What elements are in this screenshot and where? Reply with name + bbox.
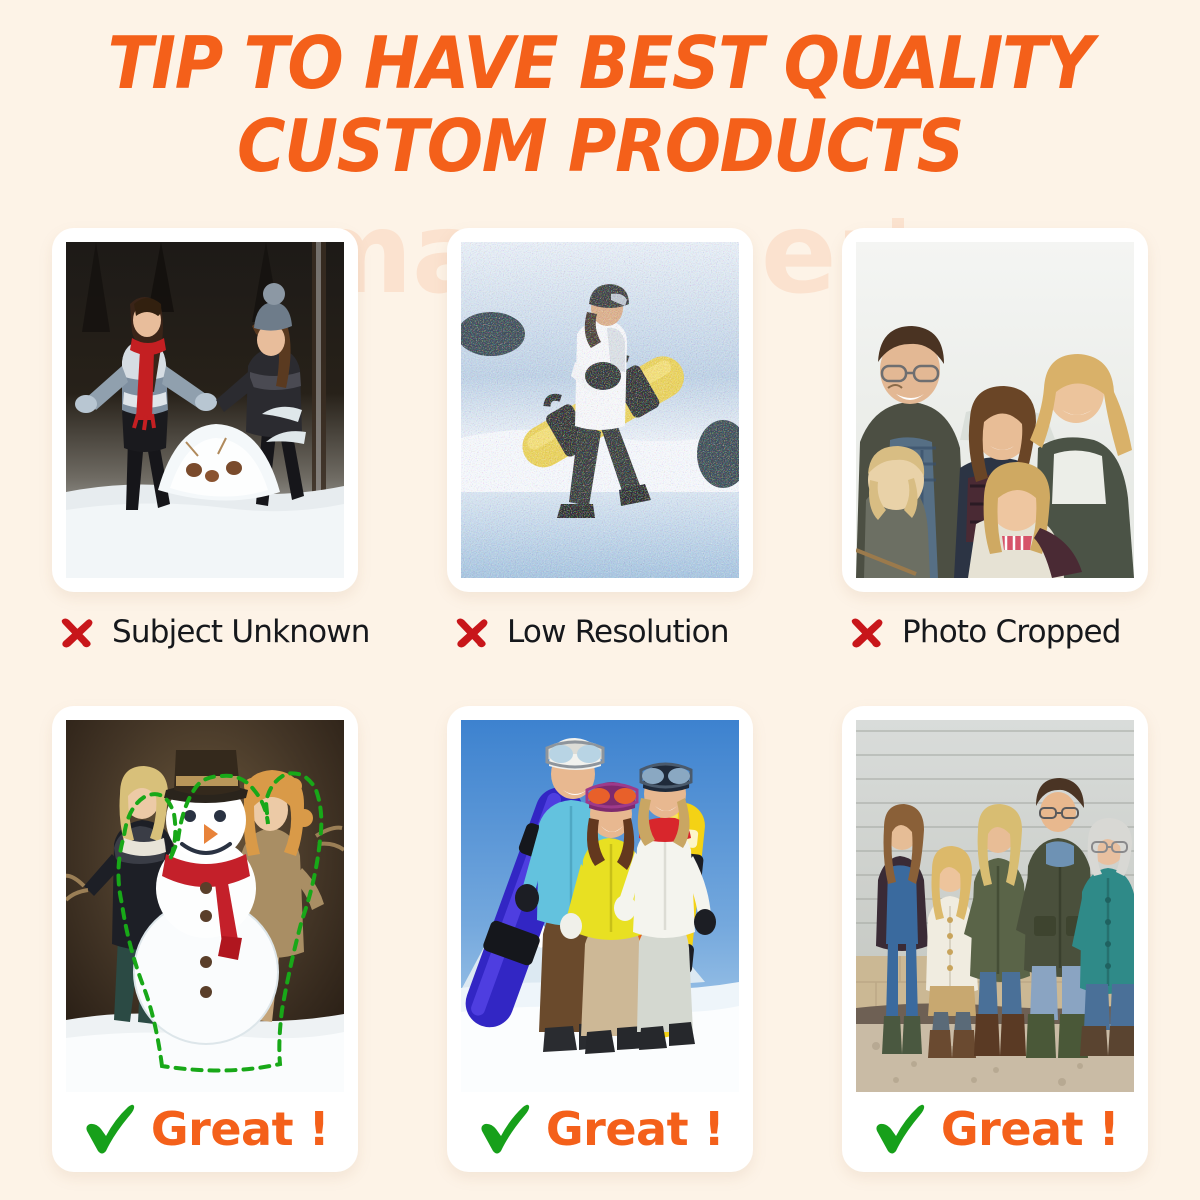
good-examples-row: Great ! [52, 706, 1148, 1172]
page-title-line-2: CUSTOM PRODUCTS [48, 105, 1152, 188]
check-mark-icon [81, 1101, 137, 1157]
great-label: Great ! [546, 1102, 724, 1156]
photo-family-wooden-wall [856, 720, 1134, 1092]
caption-subject-unknown: Subject Unknown [52, 606, 358, 658]
card-great-family[interactable]: Great ! [842, 706, 1148, 1172]
x-mark-icon [56, 611, 98, 653]
great-label-row: Great ! [856, 1092, 1134, 1172]
photo-family-cropped [856, 242, 1134, 578]
check-mark-icon [871, 1101, 927, 1157]
photo-two-women-building-snowman [66, 242, 344, 578]
card-great-snowman[interactable]: Great ! [52, 706, 358, 1172]
card-great-snowboarders[interactable]: Great ! [447, 706, 753, 1172]
caption-label: Low Resolution [507, 614, 729, 650]
bad-examples-captions: Subject Unknown Low Resolution Photo Cro… [52, 606, 1148, 658]
caption-low-resolution: Low Resolution [447, 606, 753, 658]
page-title-line-1: TIP TO HAVE BEST QUALITY [48, 22, 1152, 105]
card-photo-cropped[interactable] [842, 228, 1148, 592]
great-label-row: Great ! [461, 1092, 739, 1172]
photo-pixelated-snowboarder [461, 242, 739, 578]
photo-snowman-outlined [66, 720, 344, 1092]
bad-examples-row [52, 228, 1148, 592]
page-title: TIP TO HAVE BEST QUALITY CUSTOM PRODUCTS [48, 22, 1152, 188]
photo-three-snowboarders [461, 720, 739, 1092]
great-label: Great ! [941, 1102, 1119, 1156]
caption-label: Subject Unknown [112, 614, 370, 650]
great-label-row: Great ! [66, 1092, 344, 1172]
x-mark-icon [846, 611, 888, 653]
caption-photo-cropped: Photo Cropped [842, 606, 1148, 658]
card-low-resolution[interactable] [447, 228, 753, 592]
caption-label: Photo Cropped [902, 614, 1121, 650]
examples-grid: Subject Unknown Low Resolution Photo Cro… [52, 228, 1148, 1172]
great-label: Great ! [151, 1102, 329, 1156]
card-subject-unknown[interactable] [52, 228, 358, 592]
x-mark-icon [451, 611, 493, 653]
check-mark-icon [476, 1101, 532, 1157]
